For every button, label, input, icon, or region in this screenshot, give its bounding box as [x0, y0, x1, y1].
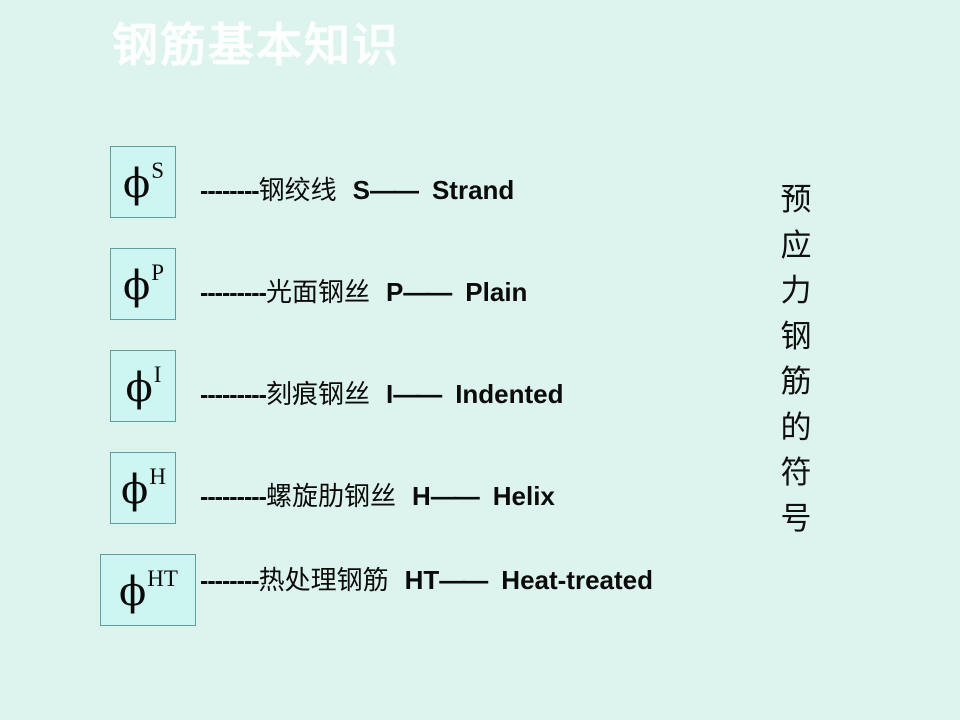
- legend-chinese-label: 光面钢丝: [266, 278, 370, 308]
- legend-line: --------钢绞线S——Strand: [200, 170, 514, 211]
- legend-english-label: Plain: [465, 277, 527, 307]
- symbol-inner: ϕH: [111, 453, 175, 523]
- symbol-box-helix: ϕH: [110, 452, 176, 524]
- dash-leader: --------: [200, 567, 259, 595]
- vertical-caption: 预 应 力 钢 筋 的 符 号: [770, 178, 822, 543]
- em-dash: ——: [403, 277, 449, 307]
- legend-chinese-label: 钢绞线: [259, 176, 337, 206]
- symbol-box-plain: ϕP: [110, 248, 176, 320]
- phi-icon: ϕ: [123, 266, 150, 306]
- symbol-box-indented: ϕI: [110, 350, 176, 422]
- symbol-box-strand: ϕS: [110, 146, 176, 218]
- vertical-caption-char: 预: [770, 178, 822, 224]
- dash-leader: ---------: [200, 279, 266, 307]
- legend-line: ---------光面钢丝P——Plain: [200, 272, 527, 313]
- symbol-inner: ϕS: [111, 147, 175, 217]
- phi-superscript: P: [151, 261, 164, 284]
- legend-line: ---------刻痕钢丝I——Indented: [200, 374, 564, 415]
- vertical-caption-char: 号: [770, 497, 822, 543]
- phi-superscript: H: [149, 465, 166, 488]
- legend-english-label: Heat-treated: [501, 565, 653, 595]
- page-title: 钢筋基本知识: [112, 20, 400, 73]
- symbol-inner: ϕI: [111, 351, 175, 421]
- symbol-box-heat-treated: ϕHT: [100, 554, 196, 626]
- vertical-caption-char: 的: [770, 406, 822, 452]
- legend-text: ---------光面钢丝P——Plain: [200, 242, 740, 344]
- legend-chinese-label: 热处理钢筋: [259, 566, 389, 596]
- legend-code: S: [353, 175, 370, 205]
- legend-text: ---------刻痕钢丝I——Indented: [200, 344, 740, 446]
- em-dash: ——: [393, 379, 439, 409]
- legend-english-label: Strand: [432, 175, 514, 205]
- legend-line: --------热处理钢筋HT——Heat-treated: [200, 560, 653, 601]
- legend-text: ---------螺旋肋钢丝H——Helix: [200, 446, 740, 548]
- phi-icon: ϕ: [119, 572, 146, 612]
- legend-chinese-label: 螺旋肋钢丝: [266, 482, 396, 512]
- vertical-caption-char: 力: [770, 269, 822, 315]
- legend-line: ---------螺旋肋钢丝H——Helix: [200, 476, 555, 517]
- em-dash: ——: [431, 481, 477, 511]
- legend-english-label: Helix: [493, 481, 555, 511]
- em-dash: ——: [439, 565, 485, 595]
- dash-leader: --------: [200, 177, 259, 205]
- list-item: ϕS --------钢绞线S——Strand: [0, 140, 740, 242]
- symbol-inner: ϕHT: [101, 555, 195, 625]
- list-item: ϕH ---------螺旋肋钢丝H——Helix: [0, 446, 740, 548]
- vertical-caption-char: 钢: [770, 315, 822, 361]
- dash-leader: ---------: [200, 483, 266, 511]
- phi-icon: ϕ: [126, 368, 153, 408]
- phi-superscript: S: [151, 159, 164, 182]
- legend-text: --------热处理钢筋HT——Heat-treated: [200, 548, 720, 662]
- em-dash: ——: [370, 175, 416, 205]
- phi-icon: ϕ: [123, 164, 150, 204]
- list-item: ϕP ---------光面钢丝P——Plain: [0, 242, 740, 344]
- list-item: ϕI ---------刻痕钢丝I——Indented: [0, 344, 740, 446]
- dash-leader: ---------: [200, 381, 266, 409]
- phi-superscript: I: [154, 363, 162, 386]
- legend-text: --------钢绞线S——Strand: [200, 140, 740, 242]
- vertical-caption-char: 筋: [770, 360, 822, 406]
- legend-code: HT: [405, 565, 440, 595]
- legend-list: ϕS --------钢绞线S——Strand ϕP ---------光面钢丝…: [0, 140, 740, 650]
- legend-code: H: [412, 481, 431, 511]
- legend-code: P: [386, 277, 403, 307]
- vertical-caption-char: 符: [770, 451, 822, 497]
- legend-english-label: Indented: [455, 379, 563, 409]
- legend-chinese-label: 刻痕钢丝: [266, 380, 370, 410]
- phi-superscript: HT: [147, 567, 178, 590]
- list-item: ϕHT --------热处理钢筋HT——Heat-treated: [0, 548, 740, 650]
- symbol-inner: ϕP: [111, 249, 175, 319]
- phi-icon: ϕ: [121, 470, 148, 510]
- vertical-caption-char: 应: [770, 224, 822, 270]
